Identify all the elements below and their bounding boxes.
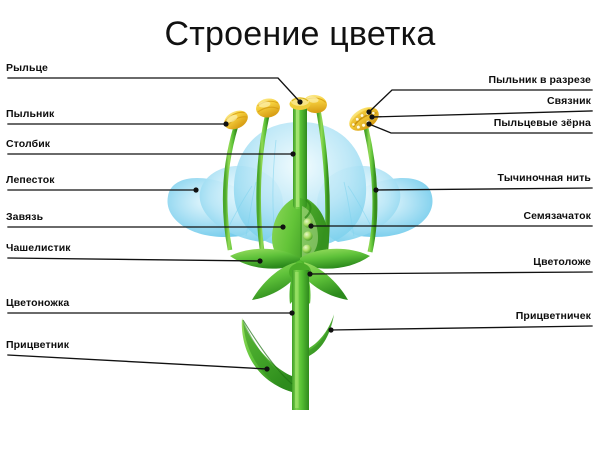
label-pedicel[interactable]: Цветоножка: [6, 297, 69, 309]
flower-illustration: [0, 0, 600, 450]
label-ovary[interactable]: Завязь: [6, 211, 43, 223]
label-bract[interactable]: Прицветник: [6, 339, 69, 351]
label-pollen-grains[interactable]: Пыльцевые зёрна: [494, 117, 591, 129]
label-anther[interactable]: Пыльник: [6, 108, 54, 120]
label-stigma[interactable]: Рыльце: [6, 62, 48, 74]
label-anther-section[interactable]: Пыльник в разрезе: [489, 74, 591, 86]
bracteole-leaf: [309, 314, 334, 356]
label-receptacle[interactable]: Цветоложе: [533, 256, 591, 268]
diagram-canvas: Строение цветка: [0, 0, 600, 450]
label-connective[interactable]: Связник: [547, 95, 591, 107]
anther-cross-section: [345, 102, 383, 135]
label-ovule[interactable]: Семязачаток: [523, 210, 591, 222]
label-style[interactable]: Столбик: [6, 138, 50, 150]
label-petal[interactable]: Лепесток: [6, 174, 55, 186]
label-bracteole[interactable]: Прицветничек: [516, 310, 591, 322]
label-sepal[interactable]: Чашелистик: [6, 242, 71, 254]
label-filament[interactable]: Тычиночная нить: [497, 172, 591, 184]
bract-leaf: [242, 318, 292, 392]
